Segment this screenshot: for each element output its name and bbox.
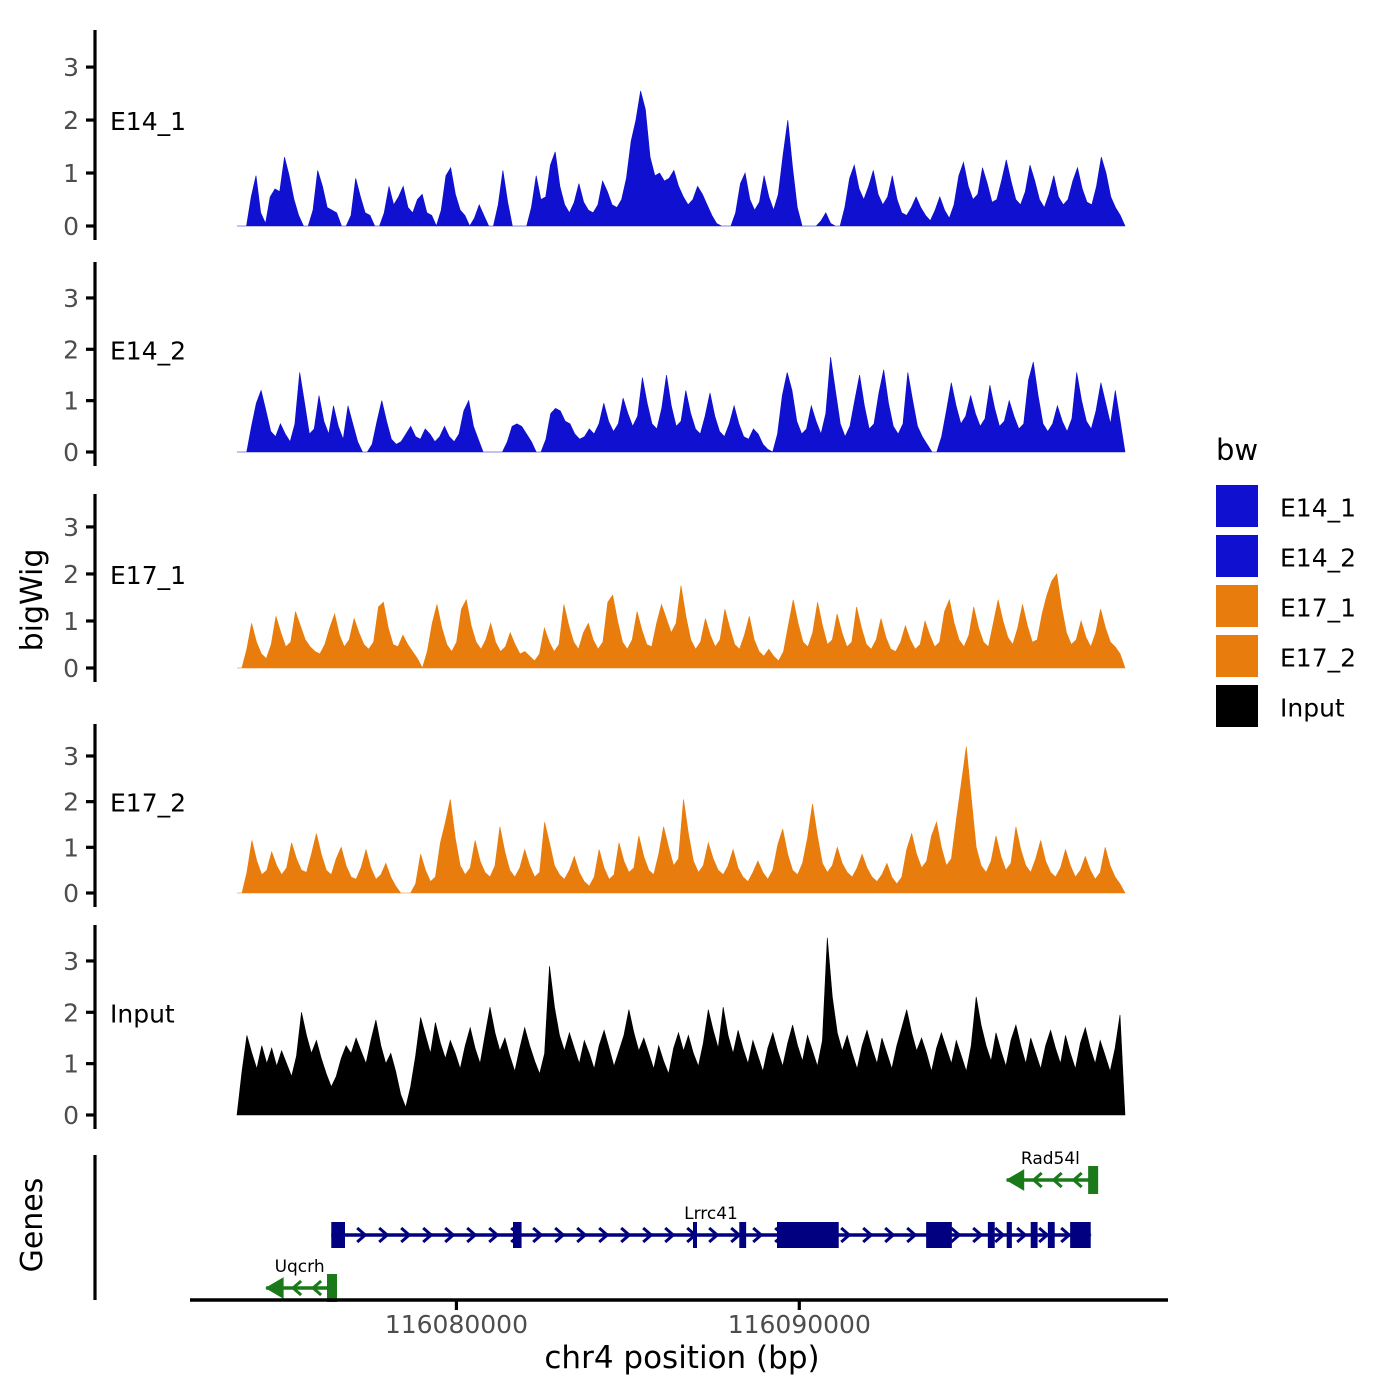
y-tick-label: 0	[63, 879, 79, 908]
legend-swatch-e14_1[interactable]	[1216, 485, 1258, 527]
gene-rad54l[interactable]: Rad54l	[1007, 1149, 1098, 1194]
y-tick-label: 0	[63, 212, 79, 241]
gene-exon-block	[1070, 1222, 1091, 1248]
gene-label-rad54l: Rad54l	[1021, 1149, 1080, 1169]
y-tick-label: 3	[63, 513, 79, 542]
legend-label-e17_1: E17_1	[1280, 594, 1356, 623]
y-tick-label: 2	[63, 335, 79, 364]
legend-label-e17_2: E17_2	[1280, 644, 1356, 673]
track-panel-input: 0123Input	[63, 925, 1125, 1130]
y-tick-label: 0	[63, 1101, 79, 1130]
y-tick-label: 2	[63, 560, 79, 589]
legend-swatch-e17_2[interactable]	[1216, 635, 1258, 677]
y-tick-label: 1	[63, 833, 79, 862]
genome-browser-figure: bigWig Genes chr4 position (bp) 0123E14_…	[0, 0, 1400, 1400]
panel-label-e17_2: E17_2	[110, 788, 186, 817]
y-tick-label: 1	[63, 159, 79, 188]
gene-terminal-arrow-icon	[266, 1278, 283, 1298]
gene-exon-block	[1031, 1222, 1038, 1248]
y-tick-label: 2	[63, 998, 79, 1027]
y-axis-title-genes: Genes	[15, 1178, 50, 1273]
x-tick-label: 116090000	[728, 1310, 871, 1339]
y-tick-label: 1	[63, 607, 79, 636]
x-axis-title: chr4 position (bp)	[544, 1340, 819, 1376]
y-tick-label: 3	[63, 947, 79, 976]
legend-label-e14_1: E14_1	[1280, 494, 1356, 523]
gene-track-panel: Rad54lLrrc41Uqcrh	[95, 1149, 1098, 1302]
track-area-e17_2	[237, 747, 1125, 893]
panel-label-e17_1: E17_1	[110, 561, 186, 590]
x-axis: 116080000116090000	[190, 1300, 1168, 1339]
panel-label-input: Input	[110, 999, 175, 1028]
y-axis-title-bigwig: bigWig	[15, 549, 50, 652]
y-tick-label: 2	[63, 106, 79, 135]
gene-lrrc41[interactable]: Lrrc41	[331, 1204, 1090, 1248]
track-area-e17_1	[237, 574, 1125, 668]
track-panels: 0123E14_10123E14_20123E17_10123E17_20123…	[63, 30, 1125, 1130]
y-tick-label: 3	[63, 742, 79, 771]
track-panel-e14_2: 0123E14_2	[63, 262, 1125, 467]
gene-exon-block	[926, 1222, 952, 1248]
x-tick-label: 116080000	[385, 1310, 528, 1339]
y-tick-label: 1	[63, 387, 79, 416]
gene-exon-block	[331, 1222, 345, 1248]
legend-swatch-e17_1[interactable]	[1216, 585, 1258, 627]
panel-label-e14_2: E14_2	[110, 336, 186, 365]
legend-label-input: Input	[1280, 694, 1345, 723]
legend-title: bw	[1216, 433, 1258, 467]
y-tick-label: 0	[63, 438, 79, 467]
y-tick-label: 3	[63, 284, 79, 313]
gene-exon-block	[693, 1222, 697, 1248]
gene-exon-block	[513, 1222, 522, 1248]
y-tick-label: 0	[63, 654, 79, 683]
track-area-e14_1	[237, 91, 1125, 226]
legend-swatch-e14_2[interactable]	[1216, 535, 1258, 577]
gene-uqcrh[interactable]: Uqcrh	[266, 1257, 337, 1302]
track-panel-e17_1: 0123E17_1	[63, 494, 1125, 683]
gene-exon-block	[988, 1222, 995, 1248]
legend-swatch-input[interactable]	[1216, 685, 1258, 727]
track-area-input	[237, 938, 1125, 1115]
track-panel-e14_1: 0123E14_1	[63, 30, 1125, 241]
gene-label-uqcrh: Uqcrh	[275, 1257, 325, 1277]
gene-label-lrrc41: Lrrc41	[684, 1204, 738, 1224]
gene-exon-block	[1007, 1222, 1012, 1248]
gene-terminal-arrow-icon	[1007, 1170, 1024, 1190]
y-tick-label: 2	[63, 788, 79, 817]
track-area-e14_2	[237, 357, 1125, 452]
gene-exon-block	[777, 1222, 839, 1248]
gene-exon-block	[1088, 1166, 1098, 1194]
y-tick-label: 1	[63, 1050, 79, 1079]
legend: bwE14_1E14_2E17_1E17_2Input	[1216, 433, 1356, 727]
track-panel-e17_2: 0123E17_2	[63, 724, 1125, 908]
panel-label-e14_1: E14_1	[110, 107, 186, 136]
gene-exon-block	[327, 1274, 337, 1302]
legend-label-e14_2: E14_2	[1280, 544, 1356, 573]
y-tick-label: 3	[63, 53, 79, 82]
gene-exon-block	[1048, 1222, 1055, 1248]
gene-exon-block	[739, 1222, 746, 1248]
